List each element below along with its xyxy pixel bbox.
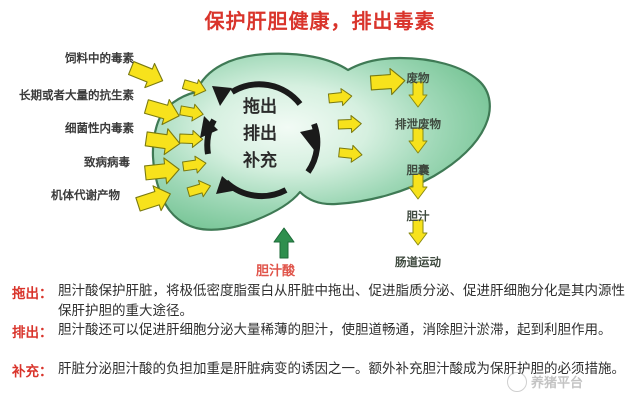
explanation-key-1: 拖出： <box>0 282 58 302</box>
source-label-5: 机体代谢产物 <box>0 187 120 203</box>
bile-acid-arrow <box>274 228 294 258</box>
source-label-2: 长期或者大量的抗生素 <box>0 87 134 103</box>
explanation-item-3: 补充： 肝脏分泌胆汁酸的负担加重是肝脏病变的诱因之一。额外补充胆汁酸成为保肝护胆… <box>0 360 640 380</box>
liver-diagram: 饲料中的毒素 长期或者大量的抗生素 细菌性内毒素 致病病毒 机体代谢产物 拖出 … <box>0 32 640 280</box>
chain-label-waste: 废物 <box>407 70 430 86</box>
infographic-root: 保护肝胆健康，排出毒素 <box>0 0 640 412</box>
chain-label-bile: 胆汁 <box>407 208 430 224</box>
explanation-key-3: 补充： <box>0 360 58 380</box>
liver-shape <box>153 54 490 230</box>
bile-acid-label: 胆汁酸 <box>256 260 295 279</box>
explanation-text-1: 胆汁酸保护肝脏，将极低密度脂蛋白从肝脏中拖出、促进脂质分泌、促进肝细胞分化是其内… <box>58 282 640 321</box>
explanation-block: 拖出： 胆汁酸保护肝脏，将极低密度脂蛋白从肝脏中拖出、促进脂质分泌、促进肝细胞分… <box>0 280 640 412</box>
source-label-4: 致病病毒 <box>0 154 130 170</box>
chain-label-gallbladder: 胆囊 <box>407 162 430 178</box>
chain-label-intestinal-motility: 肠道运动 <box>395 254 441 270</box>
chain-label-excrete-waste: 排泄废物 <box>395 116 441 132</box>
source-label-3: 细菌性内毒素 <box>0 120 134 136</box>
explanation-text-2: 胆汁酸还可以促进肝细胞分泌大量稀薄的胆汁，使胆道畅通，消除胆汁淤滞，起到利胆作用… <box>58 321 640 341</box>
explanation-text-3: 肝脏分泌胆汁酸的负担加重是肝脏病变的诱因之一。额外补充胆汁酸成为保肝护胆的必须措… <box>58 360 640 380</box>
cycle-word-1: 拖出 <box>230 92 290 117</box>
explanation-item-2: 排出： 胆汁酸还可以促进肝细胞分泌大量稀薄的胆汁，使胆道畅通，消除胆汁淤滞，起到… <box>0 321 640 341</box>
cycle-word-2: 排出 <box>230 119 290 144</box>
explanation-key-2: 排出： <box>0 321 58 341</box>
explanation-item-1: 拖出： 胆汁酸保护肝脏，将极低密度脂蛋白从肝脏中拖出、促进脂质分泌、促进肝细胞分… <box>0 282 640 321</box>
cycle-word-3: 补充 <box>230 146 290 171</box>
source-label-1: 饲料中的毒素 <box>0 50 134 66</box>
page-title: 保护肝胆健康，排出毒素 <box>0 5 640 34</box>
